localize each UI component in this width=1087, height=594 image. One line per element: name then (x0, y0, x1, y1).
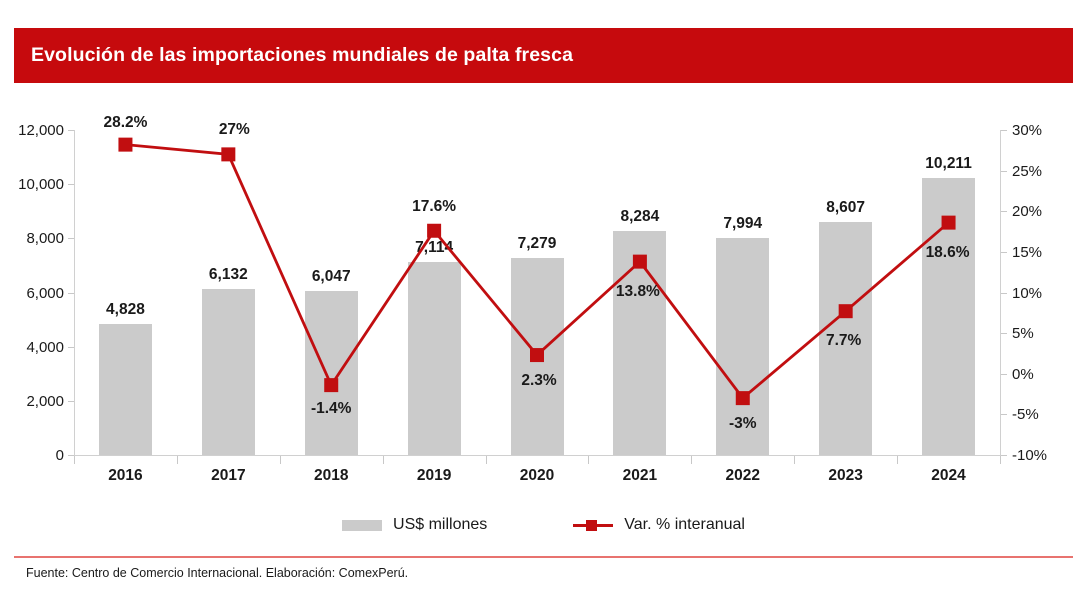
right-axis-tick (1001, 374, 1007, 375)
legend-item-line[interactable]: Var. % interanual (573, 516, 745, 534)
pct-label-2017: 27% (189, 122, 279, 138)
left-axis-tick (68, 293, 74, 294)
line-swatch-icon (573, 518, 613, 532)
left-axis-tick-label: 2,000 (26, 394, 64, 409)
bar-value-label: 10,211 (904, 156, 994, 172)
right-axis-tick (1001, 252, 1007, 253)
left-axis-tick (68, 401, 74, 402)
x-axis-tick (588, 456, 589, 464)
left-axis-tick-label: 12,000 (18, 123, 64, 138)
x-axis-label-2019: 2019 (389, 468, 479, 484)
footer-divider (14, 556, 1073, 558)
right-axis-tick (1001, 171, 1007, 172)
x-axis-label-2016: 2016 (80, 468, 170, 484)
bar-value-label: 6,132 (183, 267, 273, 283)
right-axis-tick-label: 5% (1012, 326, 1034, 341)
bar-2019[interactable] (408, 262, 461, 455)
x-axis-tick (1000, 456, 1001, 464)
pct-label-2016: 28.2% (80, 115, 170, 131)
left-axis-tick-label: 0 (56, 448, 64, 463)
pct-label-2020: 2.3% (494, 373, 584, 389)
x-axis-spine (74, 455, 1001, 456)
right-axis-tick-label: 25% (1012, 164, 1042, 179)
x-axis-tick (280, 456, 281, 464)
pct-label-2024: 18.6% (903, 245, 993, 261)
chart-legend: US$ millones Var. % interanual (0, 508, 1087, 542)
bar-value-label: 4,828 (80, 302, 170, 318)
right-axis-tick (1001, 455, 1007, 456)
left-axis-tick (68, 347, 74, 348)
left-axis-tick (68, 184, 74, 185)
x-axis-label-2020: 2020 (492, 468, 582, 484)
pct-label-2023: 7.7% (799, 333, 889, 349)
x-axis-label-2023: 2023 (801, 468, 891, 484)
bar-2016[interactable] (99, 324, 152, 455)
pct-label-2019: 17.6% (389, 199, 479, 215)
right-axis-tick-label: -10% (1012, 448, 1047, 463)
left-axis-tick (68, 238, 74, 239)
x-axis-tick (74, 456, 75, 464)
x-axis-tick (691, 456, 692, 464)
x-axis-tick (383, 456, 384, 464)
x-axis-tick (486, 456, 487, 464)
bar-2020[interactable] (511, 258, 564, 455)
right-axis-tick-label: 0% (1012, 367, 1034, 382)
bar-2018[interactable] (305, 291, 358, 455)
bar-value-label: 6,047 (286, 269, 376, 285)
bar-value-label: 8,607 (801, 200, 891, 216)
right-axis-tick-label: 15% (1012, 245, 1042, 260)
bar-2017[interactable] (202, 289, 255, 455)
left-axis-tick-label: 4,000 (26, 340, 64, 355)
bar-2024[interactable] (922, 178, 975, 455)
bar-value-label: 7,994 (698, 216, 788, 232)
pct-label-2022: -3% (698, 416, 788, 432)
legend-label-bars: US$ millones (393, 516, 487, 534)
left-axis-tick-label: 6,000 (26, 286, 64, 301)
bar-value-label: 7,279 (492, 236, 582, 252)
pct-label-2021: 13.8% (593, 284, 683, 300)
x-axis-tick (177, 456, 178, 464)
legend-label-line: Var. % interanual (624, 516, 745, 534)
right-axis-tick (1001, 414, 1007, 415)
left-axis-tick-label: 8,000 (26, 231, 64, 246)
left-axis-tick (68, 130, 74, 131)
header-banner: Evolución de las importaciones mundiales… (14, 28, 1073, 83)
right-axis-tick (1001, 130, 1007, 131)
bar-value-label: 8,284 (595, 209, 685, 225)
x-axis-tick (794, 456, 795, 464)
x-axis-tick (897, 456, 898, 464)
page-title: Evolución de las importaciones mundiales… (14, 44, 573, 67)
right-axis-tick (1001, 211, 1007, 212)
right-axis-tick (1001, 293, 1007, 294)
right-axis-tick-label: 10% (1012, 286, 1042, 301)
bar-2021[interactable] (613, 231, 666, 455)
right-axis-tick-label: 30% (1012, 123, 1042, 138)
left-axis-spine (74, 130, 75, 456)
source-note: Fuente: Centro de Comercio Internacional… (26, 566, 408, 580)
x-axis-label-2021: 2021 (595, 468, 685, 484)
right-axis-tick-label: -5% (1012, 407, 1039, 422)
right-axis-tick-label: 20% (1012, 204, 1042, 219)
x-axis-label-2024: 2024 (904, 468, 994, 484)
x-axis-label-2018: 2018 (286, 468, 376, 484)
left-axis-tick-label: 10,000 (18, 177, 64, 192)
bar-swatch-icon (342, 520, 382, 531)
x-axis-label-2017: 2017 (183, 468, 273, 484)
pct-label-2018: -1.4% (286, 401, 376, 417)
bar-value-label: 7,114 (389, 240, 479, 256)
legend-item-bars[interactable]: US$ millones (342, 516, 487, 534)
right-axis-tick (1001, 333, 1007, 334)
x-axis-label-2022: 2022 (698, 468, 788, 484)
